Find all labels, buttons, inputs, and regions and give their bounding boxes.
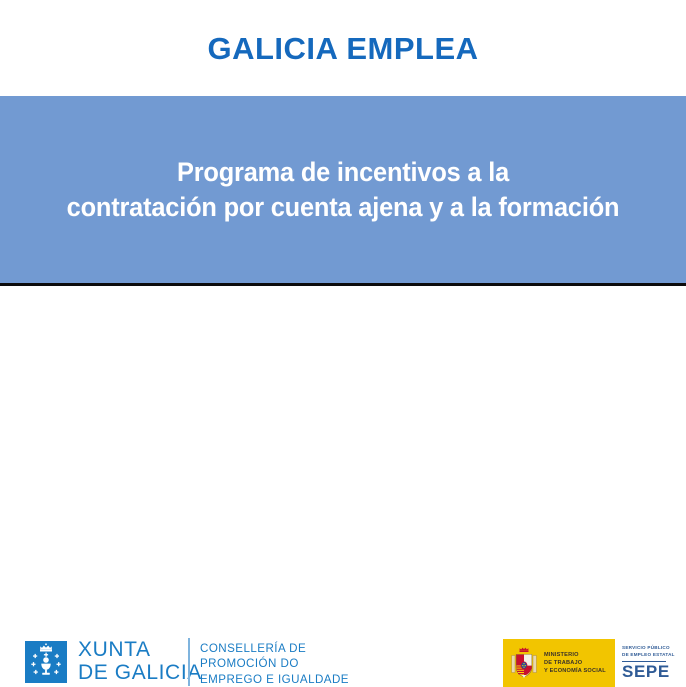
logo-divider xyxy=(188,638,190,686)
spain-coat-of-arms-icon xyxy=(509,645,539,681)
conselleria-text: CONSELLERÍA DE PROMOCIÓN DO EMPREGO E IG… xyxy=(200,641,349,687)
ministerio-line-2: DE TRABAJO xyxy=(544,659,606,667)
ministerio-text: MINISTERIO DE TRABAJO Y ECONOMÍA SOCIAL xyxy=(544,651,606,675)
title-area: GALICIA EMPLEA xyxy=(0,0,686,96)
program-banner: Programa de incentivos a la contratación… xyxy=(0,96,686,286)
xunta-word-1: XUNTA xyxy=(78,639,202,662)
xunta-wordmark: XUNTA DE GALICIA xyxy=(78,639,202,684)
conselleria-line-2: PROMOCIÓN DO xyxy=(200,656,349,671)
poster-page: GALICIA EMPLEA Programa de incentivos a … xyxy=(0,0,686,410)
conselleria-line-3: EMPREGO E IGUALDADE xyxy=(200,672,349,687)
banner-line-1: Programa de incentivos a la xyxy=(21,155,666,190)
sepe-acronym: SEPE xyxy=(622,663,686,680)
banner-text: Programa de incentivos a la contratación… xyxy=(21,155,666,224)
ministerio-line-1: MINISTERIO xyxy=(544,651,606,659)
conselleria-line-1: CONSELLERÍA DE xyxy=(200,641,349,656)
xunta-word-2: DE GALICIA xyxy=(78,662,202,685)
galicia-coat-of-arms-icon xyxy=(25,641,67,683)
ministerio-line-3: Y ECONOMÍA SOCIAL xyxy=(544,667,606,675)
sepe-subtitle: SERVICIO PÚBLICO DE EMPLEO ESTATAL xyxy=(622,645,686,659)
page-title: GALICIA EMPLEA xyxy=(207,33,478,64)
xunta-de-galicia-logo: XUNTA DE GALICIA xyxy=(25,640,202,684)
banner-line-2: contratación por cuenta ajena y a la for… xyxy=(21,190,666,225)
footer-logo-bar: XUNTA DE GALICIA CONSELLERÍA DE PROMOCIÓ… xyxy=(0,289,686,410)
sepe-subtitle-line-2: DE EMPLEO ESTATAL xyxy=(622,652,686,659)
sepe-logo: SERVICIO PÚBLICO DE EMPLEO ESTATAL SEPE xyxy=(615,639,686,687)
ministerio-logo: MINISTERIO DE TRABAJO Y ECONOMÍA SOCIAL xyxy=(503,639,615,687)
sepe-subtitle-line-1: SERVICIO PÚBLICO xyxy=(622,645,686,652)
sepe-rule xyxy=(622,661,666,662)
